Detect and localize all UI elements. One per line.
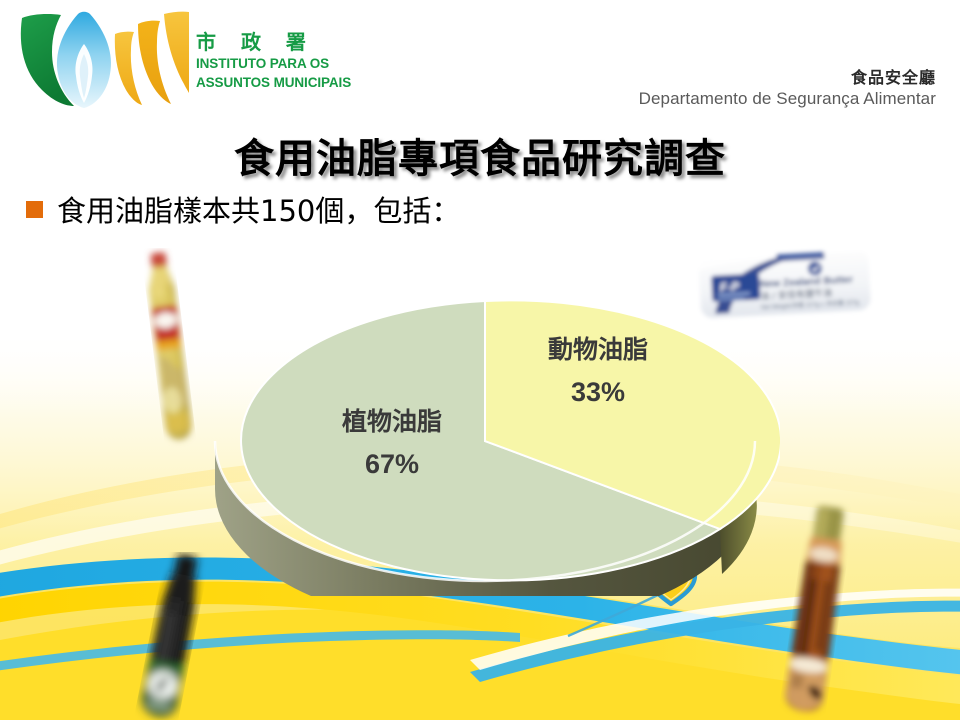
department-name-cn: 食品安全廳 [639, 64, 936, 88]
pie-label-plant-value: 67% [292, 449, 492, 480]
iam-logo-cn: 市 政 署 [196, 32, 351, 53]
bullet-text: 食用油脂樣本共150個，包括： [57, 188, 460, 230]
pie-label-animal-value: 33% [508, 377, 688, 408]
slide-header: 市 政 署 INSTITUTO PARA OS ASSUNTOS MUNICIP… [0, 0, 960, 122]
sesame-oil-bottle-photo [773, 500, 859, 720]
department-heading: 食品安全廳 Departamento de Segurança Alimenta… [639, 64, 936, 109]
cooking-oil-bottle-photo [130, 248, 210, 448]
dark-soy-bottle-photo [130, 552, 216, 720]
pie-label-animal: 動物油脂 33% [508, 336, 688, 408]
department-name-pt: Departamento de Segurança Alimentar [639, 89, 936, 109]
iam-logo-pt-line1: INSTITUTO PARA OS [196, 56, 351, 72]
slide-canvas: 市 政 署 INSTITUTO PARA OS ASSUNTOS MUNICIP… [0, 0, 960, 720]
iam-logo-pt-line2: ASSUNTOS MUNICIPAIS [196, 75, 351, 91]
pie-label-plant-name: 植物油脂 [292, 408, 492, 437]
bullet-square-icon [26, 201, 43, 218]
slide-title: 食用油脂專項食品研究調查 [0, 126, 960, 184]
pie-label-plant: 植物油脂 67% [292, 408, 492, 480]
pie-label-animal-name: 動物油脂 [508, 336, 688, 365]
iam-leaf-logo-icon [14, 10, 189, 110]
iam-logo: 市 政 署 INSTITUTO PARA OS ASSUNTOS MUNICIP… [14, 10, 364, 110]
iam-logo-text: 市 政 署 INSTITUTO PARA OS ASSUNTOS MUNICIP… [196, 32, 351, 91]
bullet-line: 食用油脂樣本共150個，包括： [26, 188, 460, 230]
